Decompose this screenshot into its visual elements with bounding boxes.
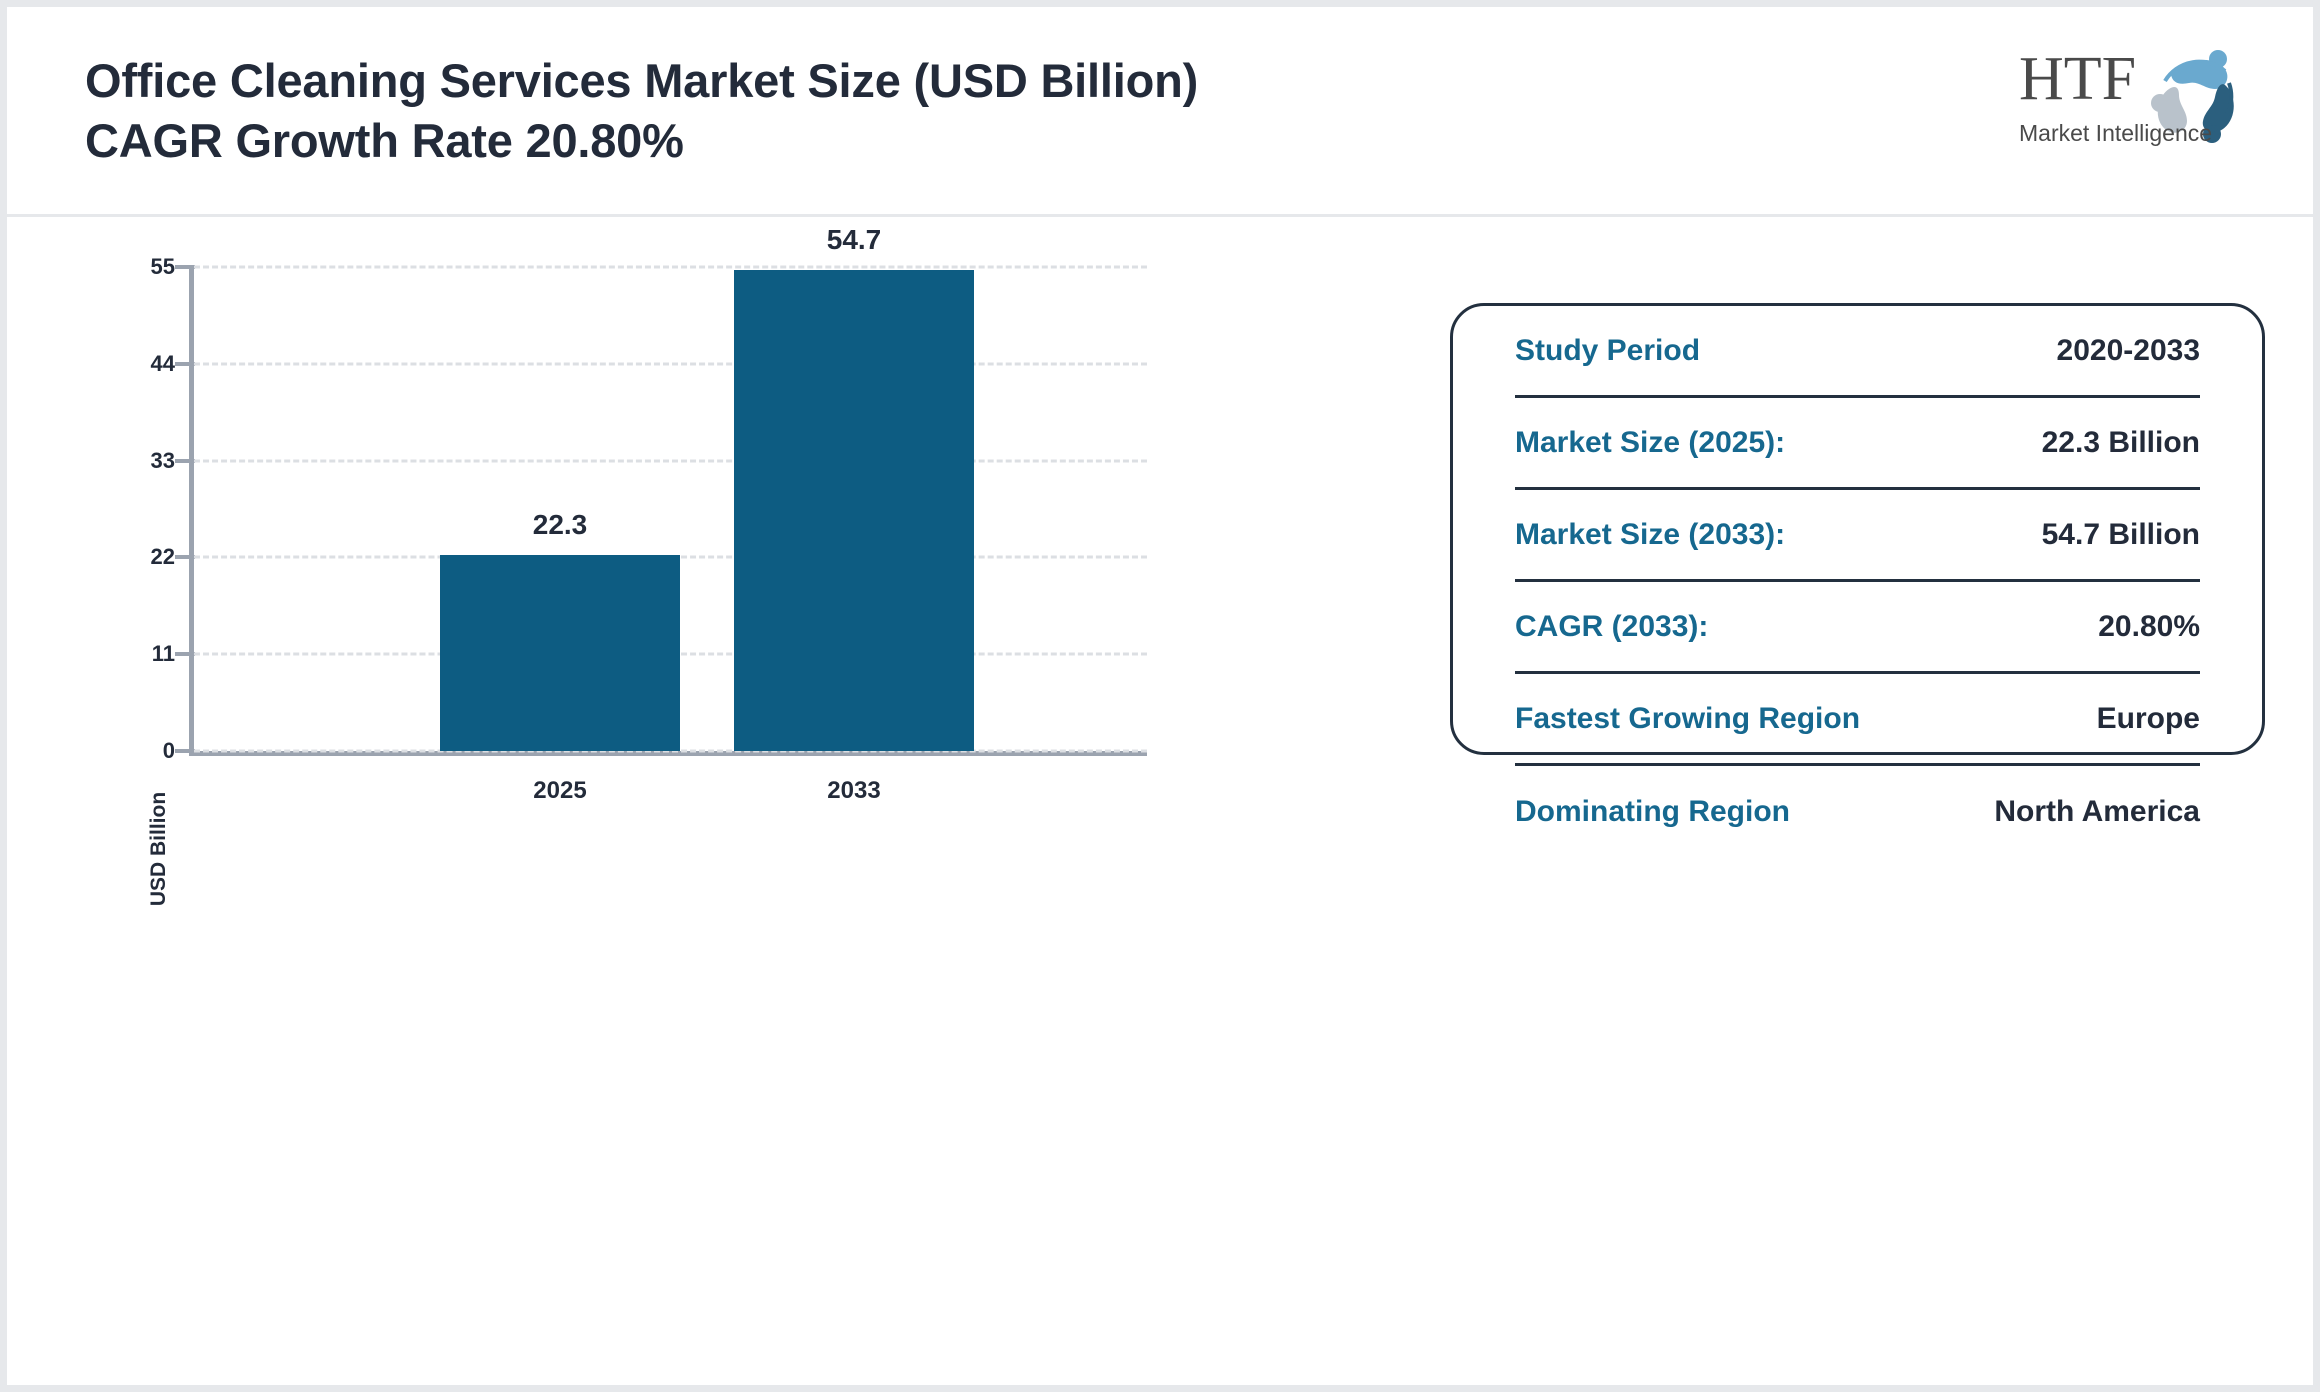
card-row-label: Fastest Growing Region — [1515, 702, 1860, 736]
x-tick-label: 2033 — [734, 777, 974, 805]
card-row: CAGR (2033):20.80% — [1515, 582, 2200, 674]
logo-wordmark-text: HTF — [2019, 45, 2136, 113]
card-row: Market Size (2025):22.3 Billion — [1515, 398, 2200, 490]
y-tick-mark — [175, 459, 195, 463]
y-tick-mark — [175, 652, 195, 656]
card-row-label: CAGR (2033): — [1515, 610, 1708, 644]
card-row-value: 54.7 Billion — [2042, 518, 2200, 552]
card-row-value: 2020-2033 — [2057, 334, 2200, 368]
card-row-value: 22.3 Billion — [2042, 426, 2200, 460]
x-tick-label: 2025 — [440, 777, 680, 805]
card-row-value: Europe — [2097, 702, 2200, 736]
y-tick-label: 0 — [107, 738, 175, 764]
card-row: Market Size (2033):54.7 Billion — [1515, 490, 2200, 582]
page-title: Office Cleaning Services Market Size (US… — [85, 51, 1335, 171]
card-row-label: Market Size (2025): — [1515, 426, 1785, 460]
htf-market-intelligence-logo: HTF Market Inte — [2019, 37, 2271, 155]
card-row: Study Period2020-2033 — [1515, 306, 2200, 398]
market-summary-card: Study Period2020-2033Market Size (2025):… — [1450, 303, 2265, 755]
y-tick-label: 44 — [107, 351, 175, 377]
y-tick-mark — [175, 362, 195, 366]
y-tick-mark — [175, 555, 195, 559]
gridline — [194, 266, 1147, 269]
bar[interactable] — [734, 270, 974, 751]
card-row-label: Market Size (2033): — [1515, 518, 1785, 552]
y-axis-spine — [189, 267, 194, 753]
bar-value-label: 22.3 — [440, 509, 680, 541]
card-row: Fastest Growing RegionEurope — [1515, 674, 2200, 766]
y-tick-label: 11 — [107, 641, 175, 667]
card-row-value: 20.80% — [2098, 610, 2200, 644]
y-tick-label: 33 — [107, 448, 175, 474]
card-row-value: North America — [1994, 795, 2200, 829]
card-row-label: Dominating Region — [1515, 795, 1790, 829]
page-root: Office Cleaning Services Market Size (US… — [0, 0, 2320, 1392]
y-tick-label: 55 — [107, 254, 175, 280]
y-tick-mark — [175, 749, 195, 753]
bar[interactable] — [440, 555, 680, 751]
bar-value-label: 54.7 — [734, 224, 974, 256]
logo-tagline-text: Market Intelligence — [2019, 120, 2212, 146]
gridline — [194, 362, 1147, 365]
header: Office Cleaning Services Market Size (US… — [7, 7, 2313, 217]
y-tick-mark — [175, 265, 195, 269]
card-row: Dominating RegionNorth America — [1515, 766, 2200, 858]
bar-chart: USD Billion 01122334455 22.354.7 2025203… — [7, 217, 1207, 1392]
card-row-label: Study Period — [1515, 334, 1700, 368]
y-tick-label: 22 — [107, 544, 175, 570]
gridline — [194, 459, 1147, 462]
